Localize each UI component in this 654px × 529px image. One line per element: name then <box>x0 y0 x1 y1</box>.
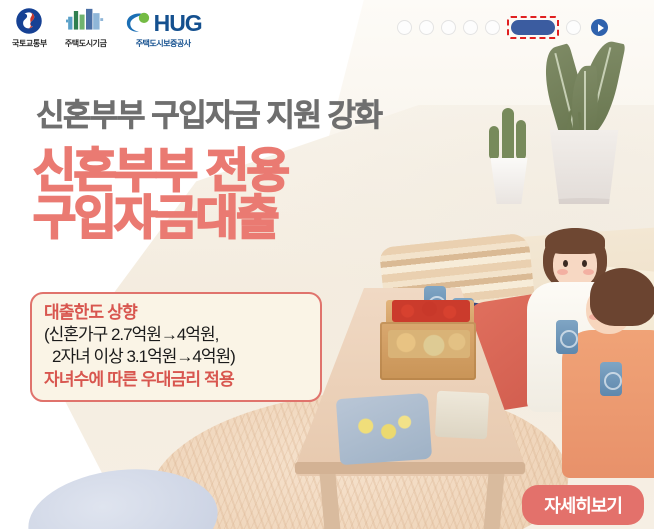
eye-shape <box>563 260 568 267</box>
promo-banner: 국토교통부 주택도시기금 HUG 주택도시보증공사 <box>0 0 654 529</box>
carousel-dot-7[interactable] <box>566 20 581 35</box>
carousel-play-button[interactable] <box>591 19 608 36</box>
view-details-button[interactable]: 자세히보기 <box>522 485 644 525</box>
carousel-dot-active-focus[interactable] <box>507 16 559 39</box>
logo-housing-fund-caption: 주택도시기금 <box>65 38 107 49</box>
info-detail-line-2: 2자녀 이상 3.1억원→4억원) <box>44 346 310 368</box>
carousel-dot-4[interactable] <box>463 20 478 35</box>
agency-logos: 국토교통부 주택도시기금 HUG 주택도시보증공사 <box>12 6 202 49</box>
blush-shape <box>557 269 568 275</box>
taeguk-icon <box>14 6 44 36</box>
logo-molit-caption: 국토교통부 <box>12 38 47 49</box>
eye-shape <box>582 260 587 267</box>
play-icon <box>598 24 604 32</box>
bread-shape <box>388 330 470 358</box>
carousel-dot-1[interactable] <box>397 20 412 35</box>
logo-housing-fund: 주택도시기금 <box>65 6 107 49</box>
strawberries-shape <box>392 300 470 322</box>
woman-fringe-shape <box>545 228 605 254</box>
banner-kicker: 신혼부부 구입자금 지원 강화 <box>36 90 382 135</box>
table-edge-shape <box>295 462 525 474</box>
snack-bag-shape <box>336 393 432 465</box>
housing-fund-icon <box>66 6 106 36</box>
hug-icon <box>125 11 151 35</box>
banner-headline: 신혼부부 전용 구입자금대출 <box>33 148 287 241</box>
logo-molit: 국토교통부 <box>12 6 47 49</box>
hug-wordmark: HUG <box>154 12 202 35</box>
drink-can-icon <box>600 362 622 396</box>
blush-shape <box>583 269 594 275</box>
carousel-pagination[interactable] <box>397 16 608 39</box>
logo-hug: HUG 주택도시보증공사 <box>125 11 202 49</box>
logo-hug-caption: 주택도시보증공사 <box>136 38 191 49</box>
loan-info-box: 대출한도 상향 (신혼가구 2.7억원→4억원, 2자녀 이상 3.1억원→4억… <box>30 292 322 402</box>
carousel-dot-3[interactable] <box>441 20 456 35</box>
illustration-scene <box>0 0 654 529</box>
headline-line-1: 신혼부부 전용 <box>33 148 287 195</box>
hug-logo-row: HUG <box>125 11 202 35</box>
info-detail-line-1: (신혼가구 2.7억원→4억원, <box>44 324 310 346</box>
carousel-dot-2[interactable] <box>419 20 434 35</box>
info-title: 대출한도 상향 <box>44 302 310 324</box>
snack-box-shape <box>435 391 489 440</box>
drink-can-icon <box>556 320 578 354</box>
carousel-dot-6-active[interactable] <box>511 20 555 35</box>
carousel-dot-5[interactable] <box>485 20 500 35</box>
headline-line-2: 구입자금대출 <box>33 195 287 242</box>
man-hair-shape <box>590 268 654 326</box>
cactus-icon <box>516 120 526 160</box>
cactus-icon <box>502 108 514 166</box>
cactus-icon <box>489 126 499 160</box>
info-footnote: 자녀수에 따른 우대금리 적용 <box>44 369 310 391</box>
